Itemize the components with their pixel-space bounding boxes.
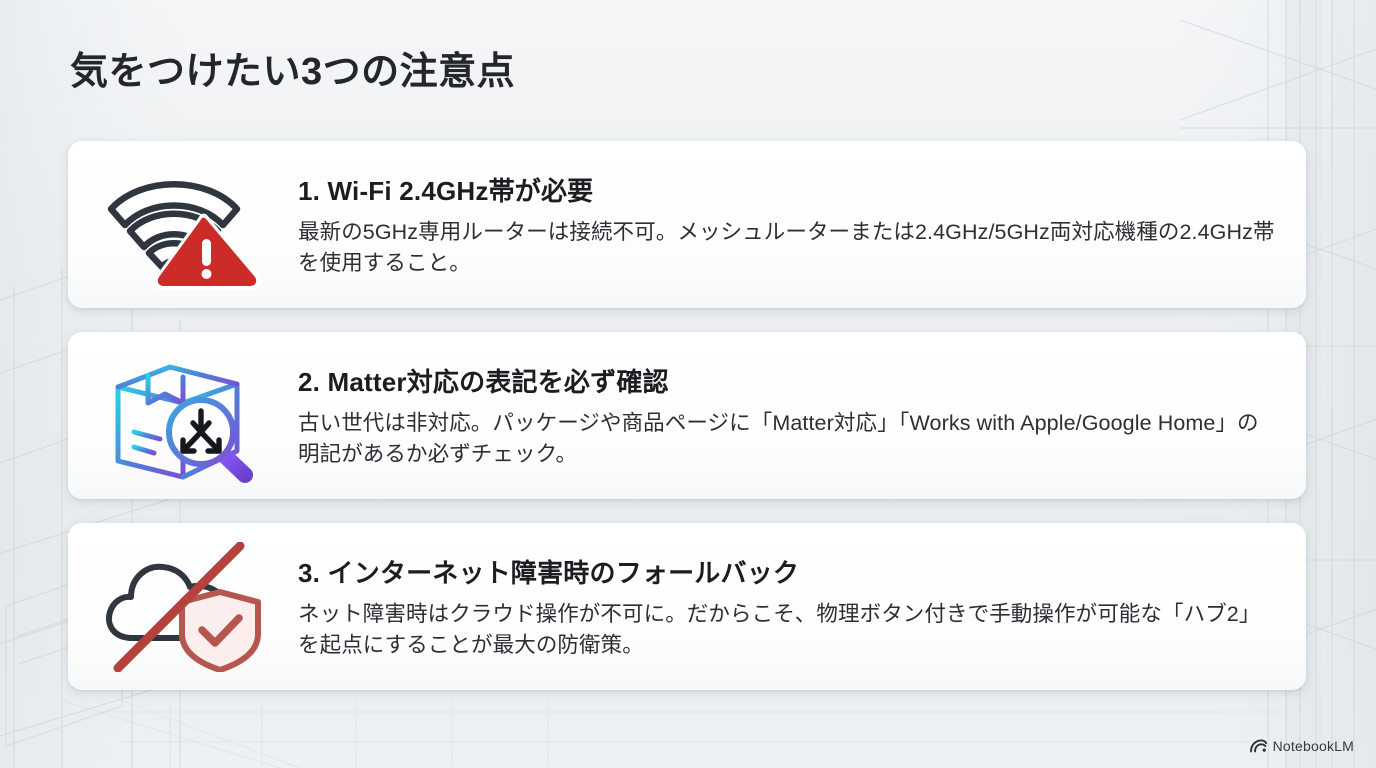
notes-card-list: 1. Wi-Fi 2.4GHz帯が必要 最新の5GHz専用ルーターは接続不可。メ… [68, 141, 1306, 714]
card-description: 最新の5GHz専用ルーターは接続不可。メッシュルーターまたは2.4GHz/5GH… [298, 217, 1276, 278]
card-icon-wrapper [68, 348, 298, 484]
slide-canvas: 気をつけたい3つの注意点 [0, 0, 1376, 768]
note-card-fallback[interactable]: 3. インターネット障害時のフォールバック ネット障害時はクラウド操作が不可に。… [68, 523, 1306, 690]
card-heading: 1. Wi-Fi 2.4GHz帯が必要 [298, 171, 1276, 208]
card-heading: 3. インターネット障害時のフォールバック [298, 553, 1276, 590]
card-text-wrapper: 3. インターネット障害時のフォールバック ネット障害時はクラウド操作が不可に。… [298, 553, 1306, 660]
card-text-wrapper: 1. Wi-Fi 2.4GHz帯が必要 最新の5GHz専用ルーターは接続不可。メ… [298, 171, 1306, 278]
card-description: 古い世代は非対応。パッケージや商品ページに「Matter対応」「Works wi… [298, 408, 1276, 469]
package-matter-magnifier-icon [108, 348, 258, 484]
shield-check-icon [182, 592, 258, 670]
card-heading: 2. Matter対応の表記を必ず確認 [298, 362, 1276, 399]
wifi-warning-icon [103, 159, 263, 291]
watermark-label: NotebookLM [1273, 738, 1354, 754]
cloud-offline-shield-icon [98, 542, 268, 672]
notebooklm-logo-icon [1250, 739, 1267, 753]
card-icon-wrapper [68, 159, 298, 291]
card-description: ネット障害時はクラウド操作が不可に。だからこそ、物理ボタン付きで手動操作が可能な… [298, 599, 1276, 660]
card-icon-wrapper [68, 542, 298, 672]
note-card-matter[interactable]: 2. Matter対応の表記を必ず確認 古い世代は非対応。パッケージや商品ページ… [68, 332, 1306, 499]
card-text-wrapper: 2. Matter対応の表記を必ず確認 古い世代は非対応。パッケージや商品ページ… [298, 362, 1306, 469]
notebooklm-watermark: NotebookLM [1250, 738, 1354, 754]
magnifier-icon [169, 400, 245, 475]
note-card-wifi[interactable]: 1. Wi-Fi 2.4GHz帯が必要 最新の5GHz専用ルーターは接続不可。メ… [68, 141, 1306, 308]
page-title: 気をつけたい3つの注意点 [70, 40, 515, 95]
